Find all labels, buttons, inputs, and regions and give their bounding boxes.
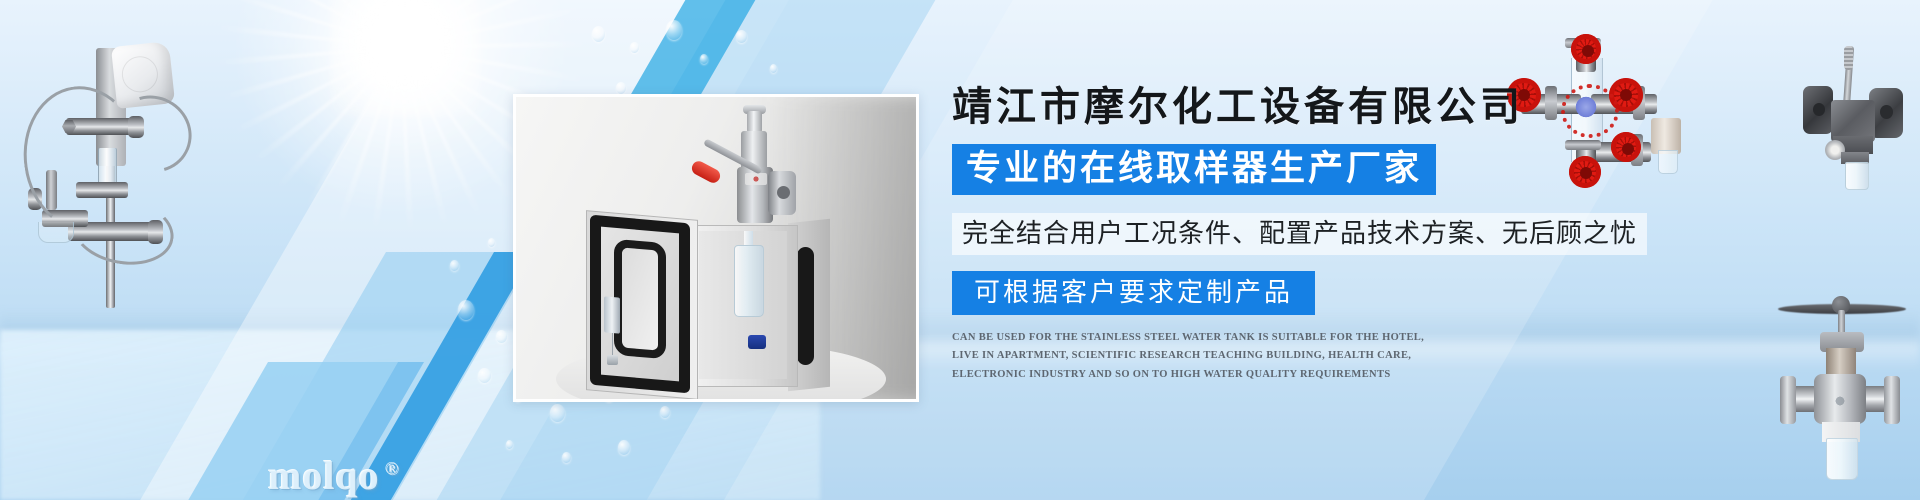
photo-cabinet-side-handle: [797, 247, 814, 365]
tagline-main-highlight: 专业的在线取样器生产厂家: [952, 144, 1436, 195]
photo-sample-bottle: [734, 245, 764, 317]
photo-top-valve-assembly: [713, 109, 799, 229]
photo-blue-cap: [748, 335, 766, 349]
brand-watermark: molqo®: [268, 452, 400, 499]
english-description: CAN BE USED FOR THE STAINLESS STEEL WATE…: [952, 329, 1452, 384]
photo-door-key: [604, 333, 622, 367]
product-flanged-lever-valve: [1797, 40, 1909, 190]
gate-valve-flange-right: [1884, 376, 1900, 424]
gate-valve-outlet-tube: [1826, 438, 1858, 480]
product-photo-sampling-cabinet: [513, 94, 919, 402]
banner-text-block: 靖江市摩尔化工设备有限公司 专业的在线取样器生产厂家 完全结合用户工况条件、配置…: [952, 84, 1712, 384]
lever-valve-grip: [1844, 46, 1853, 70]
watermark-brand-text: molqo: [268, 453, 380, 498]
gate-valve-flange-left: [1780, 376, 1796, 424]
photo-valve-stem: [747, 111, 762, 133]
promotional-banner: 靖江市摩尔化工设备有限公司 专业的在线取样器生产厂家 完全结合用户工况条件、配置…: [0, 0, 1920, 500]
cross-valve-handwheel-top: [1571, 34, 1601, 64]
feature-line: 完全结合用户工况条件、配置产品技术方案、无后顾之忧: [952, 213, 1647, 255]
photo-valve-brand-label: [745, 173, 767, 185]
custom-product-badge: 可根据客户要求定制产品: [952, 271, 1315, 315]
lever-valve-flange-left: [1803, 86, 1833, 134]
company-name: 靖江市摩尔化工设备有限公司: [952, 84, 1712, 130]
lever-valve-outlet-tube: [1845, 162, 1869, 190]
product-pole-mounted-sampler: [10, 22, 190, 302]
photo-valve-flange: [768, 171, 796, 215]
photo-door-lock: [604, 296, 620, 333]
gate-valve-brand-mark: [1830, 394, 1850, 408]
product-flanged-gate-valve: [1772, 288, 1912, 488]
registered-trademark-icon: ®: [386, 459, 401, 479]
